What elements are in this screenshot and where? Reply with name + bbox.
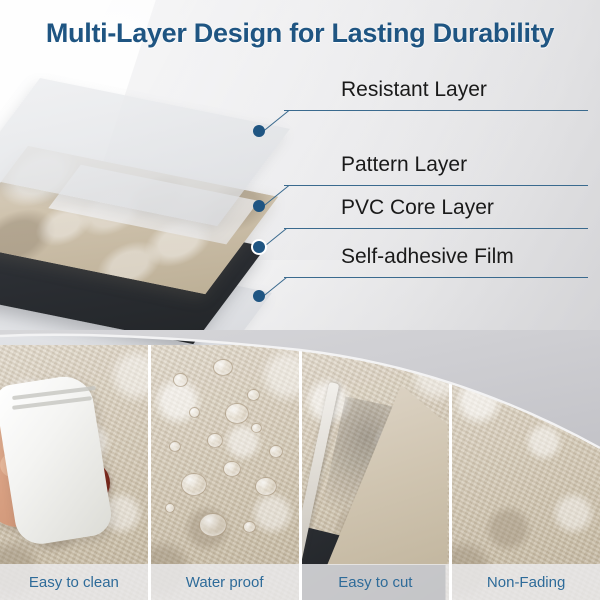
product-infographic: Multi-Layer Design for Lasting Durabilit… — [0, 0, 600, 600]
callout-line-pvc-core-layer — [284, 228, 588, 229]
water-droplet — [269, 445, 283, 458]
feature-caption-water-proof: Water proof — [151, 564, 299, 600]
water-droplet — [243, 521, 256, 533]
callout-label-self-adhesive-film: Self-adhesive Film — [341, 245, 514, 269]
callout-line-resistant-layer — [284, 110, 588, 111]
feature-panel-easy-to-clean: Easy to clean — [0, 345, 148, 600]
water-droplet — [213, 359, 233, 376]
feature-photo-strip: Easy to clean Water proof — [0, 345, 600, 600]
callout-label-pvc-core-layer: PVC Core Layer — [341, 196, 494, 220]
water-droplet — [225, 403, 249, 424]
callout-dot-resistant-layer — [253, 125, 265, 137]
feature-panel-easy-to-cut: Easy to cut — [302, 345, 450, 600]
water-droplet — [223, 461, 241, 477]
callout-dot-pattern-layer — [253, 200, 265, 212]
callout-leader-resistant-layer — [263, 110, 289, 132]
feature-caption-easy-to-clean: Easy to clean — [0, 564, 148, 600]
water-droplet — [199, 513, 227, 537]
water-droplet — [169, 441, 181, 452]
water-droplet — [207, 433, 223, 448]
callout-label-resistant-layer: Resistant Layer — [341, 78, 487, 102]
feature-panel-water-proof: Water proof — [151, 345, 299, 600]
callout-leader-self-adhesive-film — [263, 277, 287, 297]
water-droplet — [181, 473, 207, 496]
callout-line-pattern-layer — [284, 185, 588, 186]
callout-leader-pvc-core-layer — [263, 228, 287, 248]
stone-texture — [452, 345, 600, 600]
feature-panel-non-fading: Non-Fading — [452, 345, 600, 600]
feature-caption-easy-to-cut: Easy to cut — [302, 564, 450, 600]
callout-line-self-adhesive-film — [284, 277, 588, 278]
water-droplet — [189, 407, 200, 418]
water-droplet — [173, 373, 188, 387]
water-droplet — [165, 503, 175, 513]
water-droplet — [255, 477, 277, 496]
callout-dot-pvc-core-layer — [253, 241, 265, 253]
callout-leader-pattern-layer — [263, 185, 289, 207]
callout-dot-self-adhesive-film — [253, 290, 265, 302]
callout-label-pattern-layer: Pattern Layer — [341, 153, 467, 177]
feature-caption-non-fading: Non-Fading — [452, 564, 600, 600]
water-droplet — [251, 423, 262, 433]
water-droplet — [247, 389, 260, 401]
